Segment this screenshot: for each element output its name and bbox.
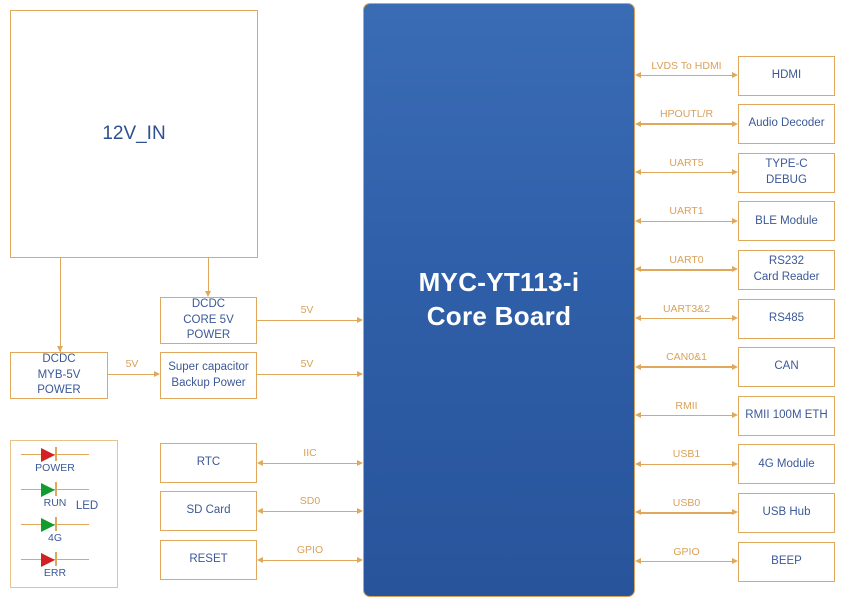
peripheral-rtc: RTC — [160, 443, 257, 483]
peripheral-bus-arrow-right — [732, 72, 738, 78]
rtc-bus-arrow-right — [357, 460, 363, 466]
peripheral-bus-arrow-right — [732, 218, 738, 224]
peripheral-bus-arrow-left — [635, 218, 641, 224]
peripheral-box: BLE Module — [738, 201, 835, 241]
signal-label-myb-5v: 5V — [110, 358, 154, 370]
peripheral-box: USB Hub — [738, 493, 835, 533]
peripheral-signal-label: USB0 — [639, 497, 734, 509]
led-diode-icon — [41, 483, 55, 497]
peripheral-bus-arrow-left — [635, 461, 641, 467]
reset-bus-arrow-left — [257, 557, 263, 563]
peripheral-signal-label: LVDS To HDMI — [639, 60, 734, 72]
led-label: POWER — [21, 462, 89, 474]
dcdc-myb-5v-power-block: DCDC MYB-5V POWER — [10, 352, 108, 399]
led-diode-icon — [41, 553, 55, 567]
vin-branch-left-vline — [60, 258, 61, 352]
led-group-label: LED — [62, 500, 112, 512]
supercap-to-board-line — [257, 374, 357, 375]
peripheral-box: RS232 Card Reader — [738, 250, 835, 290]
peripheral-signal-label: UART1 — [639, 205, 734, 217]
myb-to-supercap-line — [108, 374, 154, 375]
peripheral-bus-line — [641, 561, 732, 562]
peripheral-box: 4G Module — [738, 444, 835, 484]
dcdc-core-5v-power-block: DCDC CORE 5V POWER — [160, 297, 257, 344]
led-group: POWER RUN 4G ERR — [10, 440, 118, 588]
led-cathode-bar — [55, 482, 57, 496]
peripheral-bus-line — [641, 75, 732, 76]
peripheral-bus-arrow-left — [635, 121, 641, 127]
peripheral-bus-arrow-left — [635, 266, 641, 272]
peripheral-reset: RESET — [160, 540, 257, 580]
peripheral-signal-label: HPOUTL/R — [639, 108, 734, 120]
peripheral-bus-line — [641, 123, 732, 124]
peripheral-signal-label: GPIO — [639, 546, 734, 558]
peripheral-bus-arrow-right — [732, 169, 738, 175]
led-cathode-bar — [55, 517, 57, 531]
led-cathode-bar — [55, 447, 57, 461]
peripheral-sd-card: SD Card — [160, 491, 257, 531]
signal-label-supercap-5v: 5V — [285, 358, 329, 370]
peripheral-box: Audio Decoder — [738, 104, 835, 144]
peripheral-bus-line — [641, 464, 732, 465]
peripheral-bus-line — [641, 512, 732, 513]
peripheral-bus-arrow-right — [732, 461, 738, 467]
peripheral-bus-arrow-right — [732, 558, 738, 564]
led-diode-icon — [41, 518, 55, 532]
peripheral-bus-line — [641, 269, 732, 270]
diagram-canvas: 12V_IN MYC-YT113-i Core Board DCDC CORE … — [0, 0, 850, 609]
peripheral-signal-label: CAN0&1 — [639, 351, 734, 363]
peripheral-box: BEEP — [738, 542, 835, 582]
dcdc-core-to-board-arrow — [357, 317, 363, 323]
peripheral-signal-label: RMII — [639, 400, 734, 412]
peripheral-bus-line — [641, 172, 732, 173]
peripheral-box: RS485 — [738, 299, 835, 339]
peripheral-bus-arrow-right — [732, 266, 738, 272]
peripheral-bus-arrow-left — [635, 315, 641, 321]
peripheral-bus-line — [641, 318, 732, 319]
sd-bus-arrow-left — [257, 508, 263, 514]
super-capacitor-backup-power-block: Super capacitor Backup Power — [160, 352, 257, 399]
peripheral-bus-arrow-left — [635, 412, 641, 418]
peripheral-bus-line — [641, 415, 732, 416]
led-cathode-bar — [55, 552, 57, 566]
peripheral-bus-arrow-left — [635, 509, 641, 515]
peripheral-signal-label: UART3&2 — [639, 303, 734, 315]
peripheral-box: CAN — [738, 347, 835, 387]
led-label: ERR — [21, 567, 89, 579]
peripheral-bus-arrow-right — [732, 364, 738, 370]
sd-bus-line — [263, 511, 357, 512]
peripheral-signal-label: USB1 — [639, 448, 734, 460]
signal-label-core-5v: 5V — [285, 304, 329, 316]
led-label: 4G — [21, 532, 89, 544]
power-input-block: 12V_IN — [10, 10, 258, 258]
peripheral-bus-arrow-right — [732, 315, 738, 321]
led-row-err: ERR — [21, 551, 89, 581]
peripheral-bus-arrow-right — [732, 509, 738, 515]
rtc-bus-arrow-left — [257, 460, 263, 466]
signal-label-sd0: SD0 — [285, 495, 335, 507]
peripheral-bus-arrow-right — [732, 412, 738, 418]
peripheral-bus-arrow-left — [635, 72, 641, 78]
dcdc-core-to-board-line — [257, 320, 357, 321]
reset-bus-arrow-right — [357, 557, 363, 563]
signal-label-gpio-reset: GPIO — [283, 544, 337, 556]
reset-bus-line — [263, 560, 357, 561]
rtc-bus-line — [263, 463, 357, 464]
peripheral-bus-arrow-right — [732, 121, 738, 127]
supercap-to-board-arrow — [357, 371, 363, 377]
signal-label-iic: IIC — [285, 447, 335, 459]
sd-bus-arrow-right — [357, 508, 363, 514]
peripheral-bus-arrow-left — [635, 558, 641, 564]
myb-to-supercap-arrow — [154, 371, 160, 377]
led-diode-icon — [41, 448, 55, 462]
peripheral-signal-label: UART5 — [639, 157, 734, 169]
peripheral-bus-arrow-left — [635, 169, 641, 175]
led-row-4g: 4G — [21, 516, 89, 546]
peripheral-box: HDMI — [738, 56, 835, 96]
peripheral-bus-line — [641, 366, 732, 367]
led-row-power: POWER — [21, 446, 89, 476]
peripheral-bus-line — [641, 221, 732, 222]
peripheral-box: RMII 100M ETH — [738, 396, 835, 436]
peripheral-bus-arrow-left — [635, 364, 641, 370]
core-board: MYC-YT113-i Core Board — [363, 3, 635, 597]
peripheral-box: TYPE-C DEBUG — [738, 153, 835, 193]
peripheral-signal-label: UART0 — [639, 254, 734, 266]
vin-branch-right-vline — [208, 258, 209, 291]
